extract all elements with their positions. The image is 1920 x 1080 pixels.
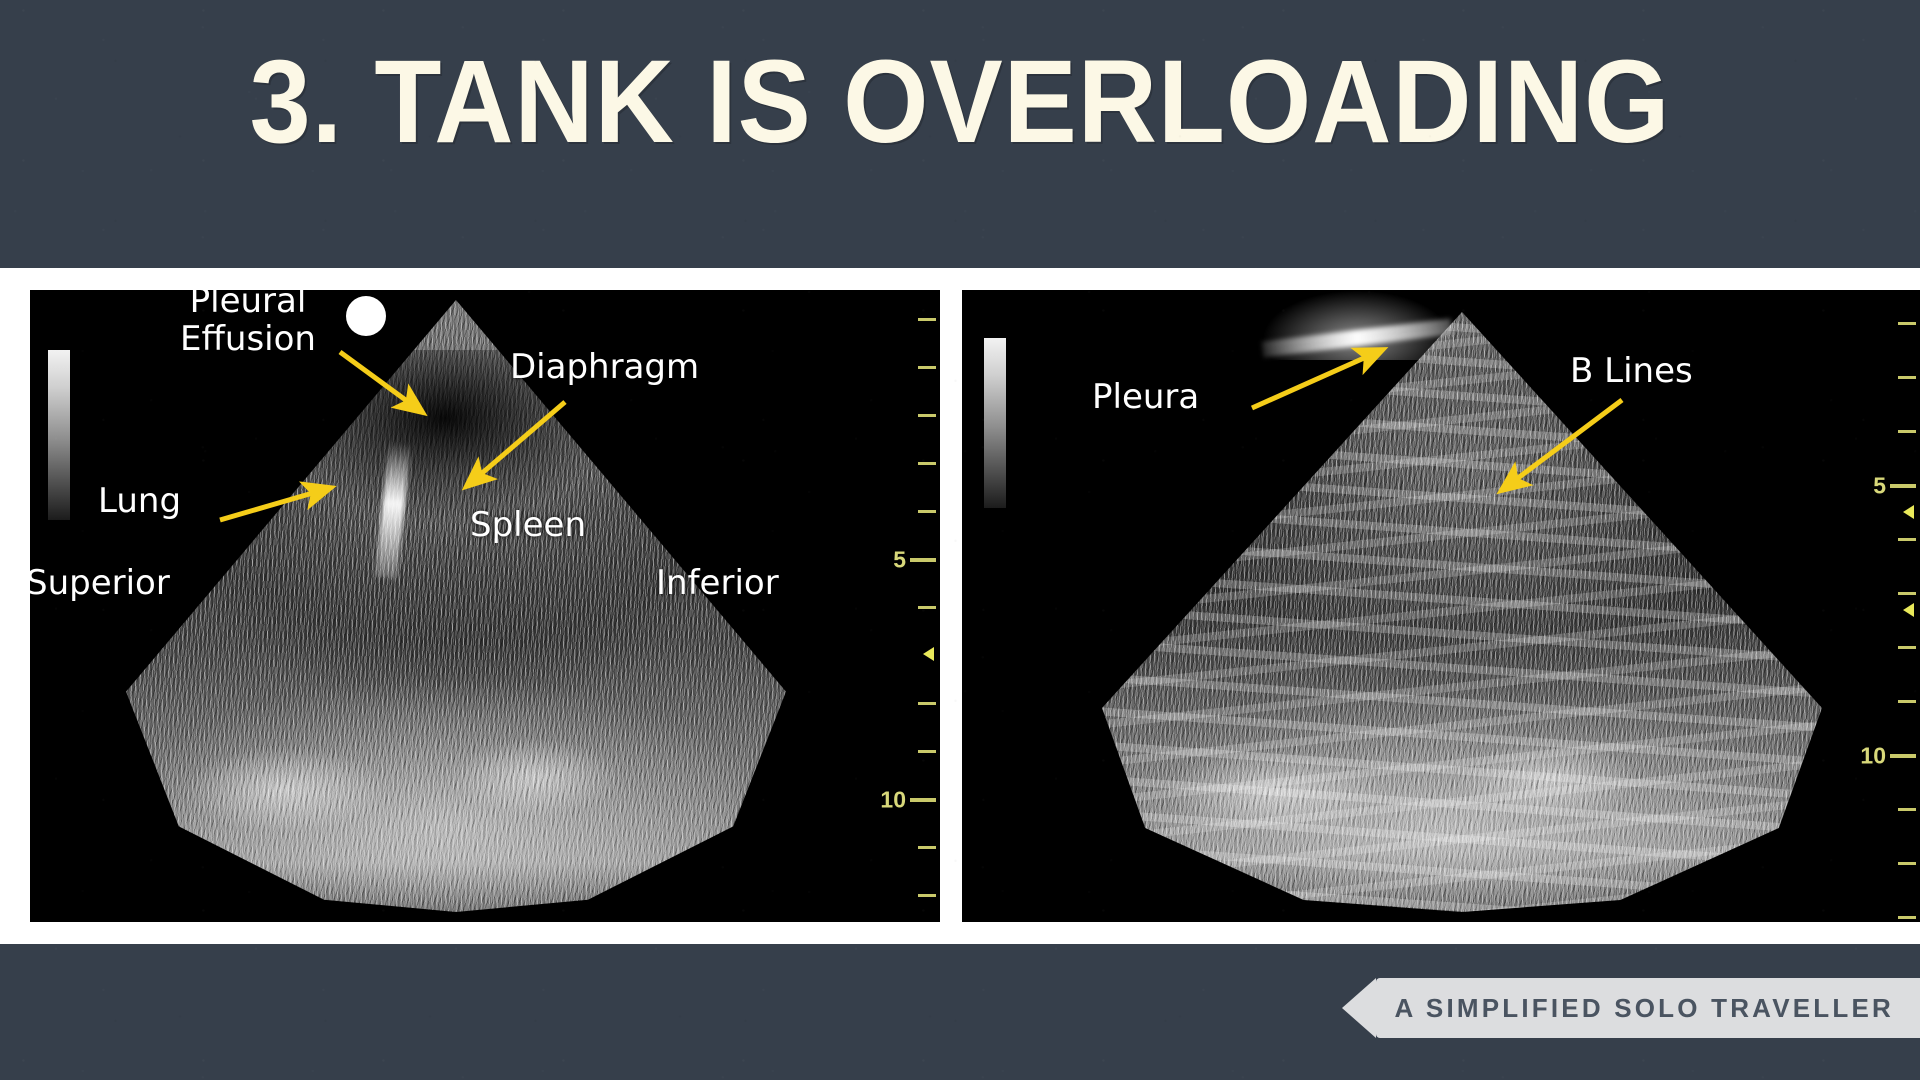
ultrasound-panel-left[interactable]: 5 10 15 Pleural bbox=[30, 290, 940, 922]
annotation-spleen: Spleen bbox=[470, 506, 586, 544]
image-frame: 5 10 15 Pleural bbox=[0, 268, 1920, 944]
orientation-label-inferior: Inferior bbox=[656, 564, 779, 602]
watermark-badge: A SIMPLIFIED SOLO TRAVELLER bbox=[1342, 978, 1920, 1038]
annotation-b-lines: B Lines bbox=[1570, 352, 1693, 390]
annotation-pleura: Pleura bbox=[1092, 378, 1199, 416]
orientation-label-superior: Superior bbox=[30, 564, 170, 602]
annotation-arrows-left bbox=[30, 290, 940, 922]
annotation-pleural-effusion: Pleural Effusion bbox=[180, 290, 316, 358]
badge-arrow-icon bbox=[1342, 978, 1376, 1038]
annotation-lung: Lung bbox=[98, 482, 181, 520]
annotation-diaphragm: Diaphragm bbox=[510, 348, 699, 386]
page-title: 3. TANK IS OVERLOADING bbox=[67, 42, 1853, 162]
badge-label: A SIMPLIFIED SOLO TRAVELLER bbox=[1376, 978, 1920, 1038]
ultrasound-panel-right[interactable]: 5 10 Pleura B Lines bbox=[962, 290, 1920, 922]
